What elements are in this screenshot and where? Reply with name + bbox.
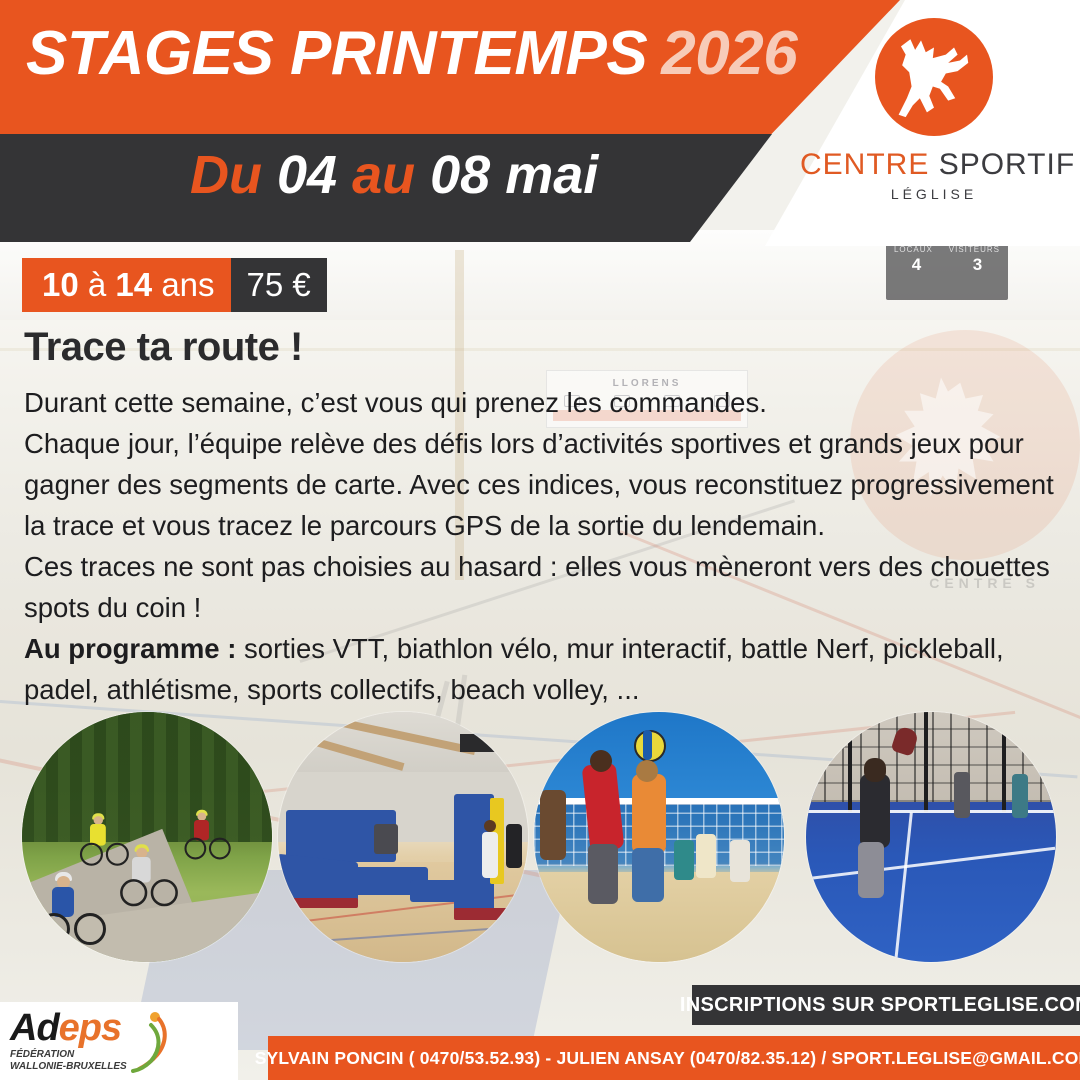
photo-wheel bbox=[151, 879, 178, 906]
photo-player-head bbox=[636, 760, 658, 782]
photo-trees bbox=[22, 712, 272, 842]
adeps-figure-icon bbox=[129, 1009, 173, 1073]
brand-name: CENTRE SPORTIF bbox=[800, 148, 1068, 182]
photo-player-left bbox=[540, 790, 566, 860]
photo-wheel bbox=[74, 913, 106, 945]
running-wolf-icon bbox=[875, 18, 993, 136]
scoreboard-away-label: VISITEURS bbox=[949, 245, 1000, 254]
contact-banner[interactable]: SYLVAIN PONCIN ( 0470/53.52.93) - JULIEN… bbox=[268, 1036, 1080, 1080]
photo-player-orange bbox=[632, 774, 666, 854]
brand-name-part1: CENTRE bbox=[800, 148, 929, 181]
adeps-wordmark: Adeps bbox=[10, 1009, 127, 1047]
adeps-swoosh-icon bbox=[129, 1009, 173, 1073]
paragraph-1: Durant cette semaine, c’est vous qui pre… bbox=[24, 382, 1064, 423]
photo-scoreboard bbox=[460, 734, 504, 752]
scoreboard-home-score: 4 bbox=[912, 255, 921, 275]
adeps-subtitle-line1: FÉDÉRATION bbox=[10, 1049, 127, 1061]
age-joiner: à bbox=[88, 266, 106, 304]
brand-name-part2: SPORTIF bbox=[939, 148, 1075, 181]
photo-cage-post bbox=[848, 712, 852, 812]
age-max: 14 bbox=[115, 266, 152, 304]
photo-wheel bbox=[184, 838, 206, 860]
paragraph-2: Chaque jour, l’équipe relève des défis l… bbox=[24, 423, 1064, 546]
photo-volleyball bbox=[634, 730, 666, 762]
photo-padel-player bbox=[860, 774, 890, 848]
date-joiner: au bbox=[352, 145, 415, 205]
price-badge: 75 € bbox=[231, 258, 327, 312]
photo-wheel bbox=[106, 843, 129, 866]
photo-wheel bbox=[120, 879, 147, 906]
photo-vtt-forest bbox=[22, 712, 272, 962]
page-title: STAGES PRINTEMPS2026 bbox=[26, 18, 797, 89]
photo-gallery bbox=[0, 712, 1080, 962]
adeps-word-part1: Ad bbox=[10, 1007, 59, 1049]
photo-mat-edge bbox=[454, 908, 528, 920]
photo-adult bbox=[506, 824, 522, 868]
photo-indoor-gym bbox=[278, 712, 528, 962]
photo-equipment bbox=[374, 824, 398, 854]
date-prefix: Du bbox=[190, 145, 262, 205]
age-badge: 10 à 14 ans bbox=[22, 258, 231, 312]
info-badge: 10 à 14 ans 75 € bbox=[22, 258, 327, 312]
photo-cage-post bbox=[1002, 712, 1006, 812]
photo-spectator bbox=[730, 840, 750, 882]
date-start: 04 bbox=[277, 145, 337, 205]
photo-player-head bbox=[864, 758, 886, 782]
adeps-subtitle-line2: WALLONIE-BRUXELLES bbox=[10, 1061, 127, 1073]
date-range: Du 04 au 08 mai bbox=[190, 144, 598, 206]
date-end: 08 mai bbox=[430, 145, 598, 205]
photo-court-line bbox=[807, 847, 1056, 880]
section-headline: Trace ta route ! bbox=[24, 325, 303, 370]
inscriptions-banner[interactable]: INSCRIPTIONS SUR SPORTLEGLISE.COM bbox=[692, 985, 1080, 1025]
photo-spectator bbox=[696, 834, 716, 878]
brand-subtitle: LÉGLISE bbox=[800, 186, 1068, 202]
photo-wheel bbox=[38, 913, 70, 945]
paragraph-3: Ces traces ne sont pas choisies au hasar… bbox=[24, 546, 1064, 628]
photo-child-head bbox=[484, 820, 496, 832]
photo-padel-court bbox=[806, 712, 1056, 962]
poster-root: LOCAUX VISITEURS 4 3 LLORENS CENTRE S bbox=[0, 0, 1080, 1080]
photo-player-shorts bbox=[632, 848, 664, 902]
adeps-text-block: Adeps FÉDÉRATION WALLONIE-BRUXELLES bbox=[10, 1009, 127, 1073]
photo-player-head bbox=[590, 750, 612, 772]
photo-beach-volley bbox=[534, 712, 784, 962]
photo-player-shorts bbox=[588, 844, 618, 904]
photo-child bbox=[482, 832, 498, 878]
brand-logo: CENTRE SPORTIF LÉGLISE bbox=[800, 18, 1068, 202]
photo-wheel bbox=[209, 838, 231, 860]
photo-mat-edge bbox=[278, 898, 358, 908]
paragraph-programme: Au programme : sorties VTT, biathlon vél… bbox=[24, 628, 1064, 710]
adeps-logo: Adeps FÉDÉRATION WALLONIE-BRUXELLES bbox=[0, 1002, 238, 1080]
photo-cage-post bbox=[924, 712, 928, 812]
photo-court-line bbox=[894, 812, 913, 961]
adeps-word-part2: eps bbox=[59, 1007, 121, 1049]
brand-logo-circle bbox=[875, 18, 993, 136]
adeps-subtitle: FÉDÉRATION WALLONIE-BRUXELLES bbox=[10, 1049, 127, 1073]
page-title-year: 2026 bbox=[661, 19, 797, 88]
photo-spectator bbox=[674, 840, 694, 880]
age-unit: ans bbox=[161, 266, 214, 304]
page-title-text: STAGES PRINTEMPS bbox=[26, 19, 647, 88]
photo-padel-opponent bbox=[954, 772, 970, 818]
photo-padel-opponent bbox=[1012, 774, 1028, 818]
background-scoreboard: LOCAUX VISITEURS 4 3 bbox=[886, 240, 1008, 300]
programme-label: Au programme : bbox=[24, 633, 236, 664]
description-text: Durant cette semaine, c’est vous qui pre… bbox=[24, 382, 1064, 710]
scoreboard-home-label: LOCAUX bbox=[894, 245, 933, 254]
age-min: 10 bbox=[42, 266, 79, 304]
photo-player-legs bbox=[858, 842, 884, 898]
photo-wheel bbox=[80, 843, 103, 866]
scoreboard-away-score: 3 bbox=[973, 255, 982, 275]
